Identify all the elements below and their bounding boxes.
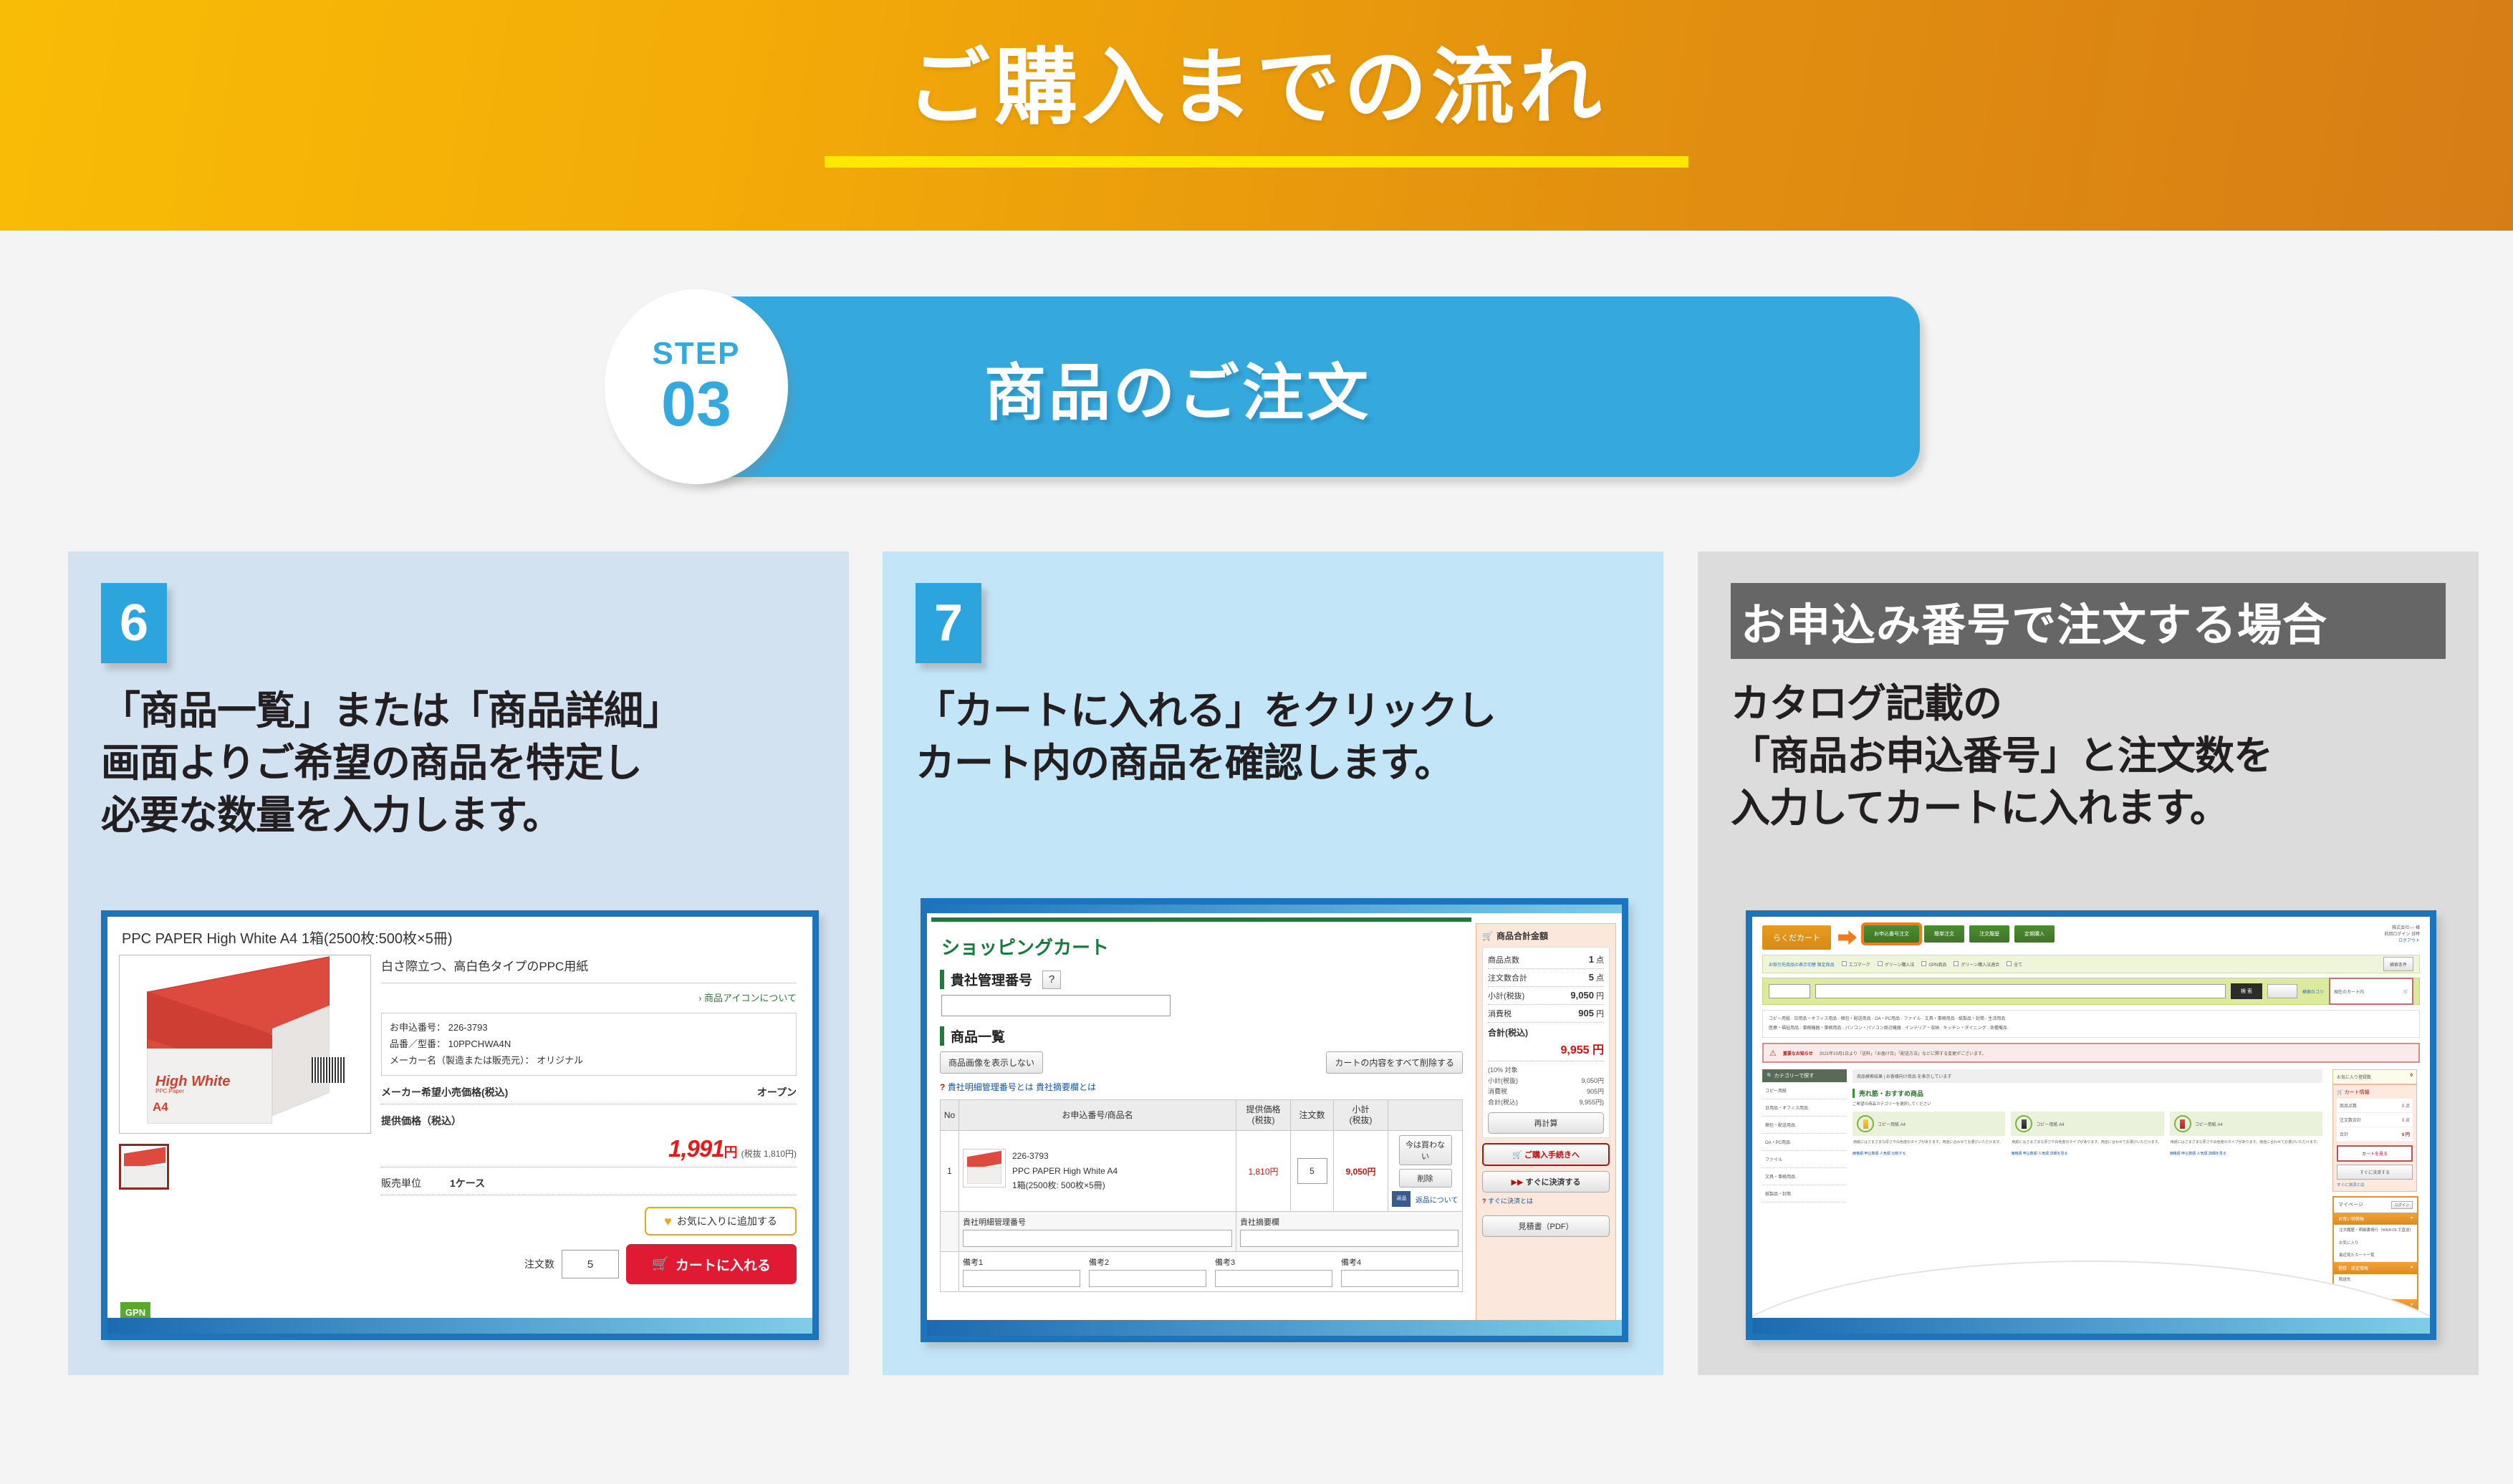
memo-4-input[interactable]	[1341, 1270, 1459, 1287]
summary-line-item-count: 商品点数 1 点	[1488, 951, 1604, 969]
site-quick-pay-note[interactable]: すぐに決済とは	[2337, 1182, 2413, 1187]
list-item[interactable]: コピー用紙 A4 用紙にはさまざまな厚さや白色度のタイプがあります。用途に合わせ…	[2170, 1112, 2322, 1157]
screenshot-2-top-bar	[927, 905, 1622, 913]
sidebar-item-4[interactable]: ファイル	[1762, 1151, 1847, 1168]
search-icon: 🔍	[1767, 1074, 1773, 1079]
memo-3-label: 備考3	[1215, 1256, 1332, 1268]
filter-green-law: グリーン購入法	[1878, 961, 1915, 968]
page-fade-wave	[1752, 1253, 2430, 1318]
step-number: 03	[661, 372, 731, 435]
summary-line-total-qty: 注文数合計 5 点	[1488, 969, 1604, 987]
mypage-heading: マイページ ログイン	[2334, 1198, 2417, 1213]
msrp-label: メーカー希望小売価格(税込)	[381, 1085, 508, 1099]
row-no: 1	[941, 1131, 959, 1212]
step-title: 商品のご注文	[984, 342, 1371, 432]
cart-sidebar-icon: 🛒	[2337, 1090, 2343, 1095]
panel-badge-6: 6	[101, 583, 167, 663]
site-search-bar: 検 索 検索のコツ 現在のカート内 🛒	[1762, 978, 2420, 1005]
cart-sidebar-line-1: 注文数合計0 点	[2337, 1113, 2413, 1127]
add-to-favorites-button[interactable]: ♥ お気に入りに追加する	[645, 1207, 797, 1235]
sidebar-item-3[interactable]: OA・PC用品	[1762, 1134, 1847, 1151]
return-policy-link[interactable]: 返品について	[1416, 1197, 1459, 1205]
summary-cell: 貴社摘要欄	[1236, 1212, 1463, 1252]
catalog-site-page: らくだカート お申込番号注文 簡単注文 注文履歴 定期購入 株式会社○○ 様 前…	[1752, 917, 2430, 1334]
nav-easy-order[interactable]: 簡単注文	[1924, 925, 1964, 943]
add-to-cart-label: カートに入れる	[676, 1255, 771, 1274]
row-memo-fields: 備考1 備考2 備考3	[941, 1252, 1463, 1292]
memo-4-label: 備考4	[1341, 1256, 1459, 1268]
memo-cell: 備考1 備考2 備考3	[959, 1252, 1463, 1292]
step-label: STEP	[653, 338, 741, 370]
screenshot-1-bottom-bar	[107, 1318, 812, 1334]
mini-cart-box[interactable]: 現在のカート内 🛒	[2329, 978, 2413, 1005]
view-cart-button[interactable]: カートを見る	[2337, 1145, 2413, 1162]
cart-table-header: No お申込番号/商品名 提供価格 (税抜) 注文数 小計 (税抜)	[941, 1100, 1463, 1131]
panel-badge-7: 7	[916, 583, 981, 663]
product-lead: 白さ際立つ、高白色タイプのPPC用紙	[381, 956, 797, 974]
spec-model-no: 品番／型番： 10PPCHWA4N	[390, 1036, 788, 1053]
heart-icon: ♥	[664, 1214, 672, 1229]
help-icon[interactable]: ?	[1042, 970, 1061, 989]
quantity-label: 注文数	[524, 1257, 554, 1271]
search-input[interactable]	[1815, 984, 2226, 998]
checkout-cart-icon: 🛒	[1512, 1151, 1522, 1160]
warning-title: 重要なお知らせ	[1783, 1050, 1813, 1056]
page-header: ご購入までの流れ	[0, 0, 2513, 231]
step-badge: STEP 03	[605, 289, 788, 484]
cart-page-title: ショッピングカート	[941, 933, 1463, 960]
spec-maker: メーカー名（製造または販売元）： オリジナル	[390, 1053, 788, 1069]
summary-title-row: 🛒 商品合計金額	[1482, 930, 1610, 942]
row-price: 1,810円	[1236, 1131, 1291, 1212]
checkbox-green-law[interactable]	[1878, 961, 1883, 966]
spec-application-no: お申込番号： 226-3793	[390, 1020, 788, 1036]
memo-1-label: 備考1	[963, 1256, 1080, 1268]
warning-icon: ⚠	[1769, 1049, 1777, 1058]
shopping-cart-page: ショッピングカート 貴社管理番号 ? 商品一覧 商品画像を表示しない カートの内…	[927, 913, 1622, 1342]
panel-description-order-by-number: カタログ記載の 「商品お申込番号」と注文数を 入力してカートに入れます。	[1731, 678, 2446, 834]
site-logo[interactable]: らくだカート	[1762, 925, 1831, 950]
add-to-favorites-label: お気に入りに追加する	[677, 1214, 777, 1228]
keep-for-later-button[interactable]: 今は買わない	[1399, 1135, 1452, 1165]
quote-pdf-button[interactable]: 見積書（PDF）	[1482, 1215, 1610, 1237]
col-subtotal: 小計 (税抜)	[1334, 1100, 1388, 1131]
mini-cart-icon: 🛒	[2403, 989, 2408, 994]
pointer-arrow-icon	[1838, 930, 1857, 945]
product-spec-box: お申込番号： 226-3793 品番／型番： 10PPCHWA4N メーカー名（…	[381, 1013, 797, 1076]
row-detail-fields: 貴社明細管理番号 貴社摘要欄	[941, 1212, 1463, 1252]
summary-line-subtotal: 小計(税抜) 9,050 円	[1488, 987, 1604, 1005]
cart-summary-sidebar: 🛒 商品合計金額 商品点数 1 点 注文数合計 5 点 小計(税抜) 9,050…	[1476, 923, 1616, 1337]
cart-icon: 🛒	[652, 1256, 669, 1273]
table-row: 1 226-3793 PPC PAPER High White A4 1箱(25…	[941, 1131, 1463, 1212]
site-nav: お申込番号注文 簡単注文 注文履歴 定期購入	[1864, 925, 2305, 943]
row-code: 226-3793	[1012, 1149, 1118, 1163]
delete-row-button[interactable]: 削除	[1399, 1169, 1452, 1187]
quick-payment-link[interactable]: すぐに決済とは	[1488, 1198, 1533, 1205]
panel-description-6: 「商品一覧」または「商品詳細」 画面よりご希望の商品を特定し 必要な数量を入力し…	[101, 685, 816, 842]
site-warning-banner: ⚠ 重要なお知らせ 2021年10月1日より「送料」「お届け日」「配送方法」など…	[1762, 1043, 2420, 1063]
search-tips-link[interactable]: 検索のコツ	[2302, 988, 2324, 995]
col-actions	[1388, 1100, 1463, 1131]
checkbox-green-conform[interactable]	[1954, 961, 1959, 966]
breakdown-subtotal: 小計(税抜)9,050円	[1488, 1075, 1604, 1086]
memo-2-label: 備考2	[1089, 1256, 1206, 1268]
warning-text: 2021年10月1日より「送料」「お届け日」「配送方法」などに関する変更がござい…	[1820, 1050, 1986, 1056]
product-image: High WhitePPC Paper A4	[119, 955, 371, 1134]
price-label: 提供価格（税込）	[381, 1114, 461, 1128]
checkbox-gpn[interactable]	[1921, 961, 1926, 966]
delete-all-button[interactable]: カートの内容をすべて削除する	[1326, 1051, 1463, 1074]
summary-total-value: 9,955 円	[1488, 1039, 1604, 1061]
row-name: PPC PAPER High White A4	[1012, 1164, 1118, 1178]
row-qty-cell: 5	[1291, 1131, 1334, 1212]
breakdown-head: (10% 対象	[1488, 1064, 1604, 1075]
panel-description-7: 「カートに入れる」をクリックし カート内の商品を確認します。	[916, 685, 1630, 789]
memo-2-input[interactable]	[1089, 1270, 1206, 1287]
results-heading: 商品検索結果 | お客様向け商品 を表示しています	[1853, 1069, 2322, 1083]
mypage-item-0-0[interactable]: 注文履歴・明細書発行（WEB-DLで直送）	[2334, 1225, 2417, 1237]
search-conditions-button[interactable]: 検索条件	[2383, 957, 2413, 971]
price-excluding-tax: (税抜 1,810円)	[741, 1147, 797, 1160]
quick-payment-button[interactable]: ▶▶ すぐに決済する	[1482, 1171, 1610, 1192]
filter-all: 全て	[2007, 961, 2022, 968]
breakdown-total: 合計(税込)9,955円)	[1488, 1097, 1604, 1107]
price-value: 1,991円	[668, 1135, 737, 1162]
cart-sidebar-line-2: 合計0 円	[2337, 1127, 2413, 1142]
checkout-button[interactable]: 🛒 ご購入手続きへ	[1482, 1143, 1610, 1166]
add-to-cart-button[interactable]: 🛒 カートに入れる	[626, 1244, 797, 1284]
col-name: お申込番号/商品名	[959, 1100, 1236, 1131]
screenshot-product-detail: PPC PAPER High White A4 1箱(2500枚:500枚×5冊…	[101, 910, 819, 1340]
unit-value: 1ケース	[450, 1176, 485, 1190]
site-filter-band: お取引先商品の表示切替 限定商品 エコマーク グリーン購入法 GPN商品 グリー…	[1762, 955, 2420, 973]
mypage-section-0-title: お買い物情報▾	[2334, 1213, 2417, 1225]
site-quick-pay-button[interactable]: すぐに決済する	[2337, 1165, 2413, 1180]
sidebar-item-1[interactable]: 日用品・オフィス用品	[1762, 1099, 1847, 1117]
sidebar-item-0[interactable]: コピー用紙	[1762, 1082, 1847, 1099]
filter-eco: エコマーク	[1842, 961, 1870, 968]
chevron-down-icon: ▾	[2411, 1215, 2413, 1222]
summary-input[interactable]	[1240, 1230, 1459, 1247]
hide-images-button[interactable]: 商品画像を表示しない	[940, 1051, 1043, 1074]
cart-help-links: ? 貴社明細管理番号とは 貴社摘要欄とは	[940, 1081, 1463, 1093]
note-question-icon: ?	[1482, 1198, 1486, 1205]
list-item[interactable]: コピー用紙 A4 用紙にはさまざまな厚さや白色度のタイプがあります。用途に合わせ…	[1853, 1112, 2005, 1157]
recalculate-button[interactable]: 再計算	[1488, 1112, 1604, 1134]
sidebar-item-6[interactable]: 紙製品・封筒	[1762, 1185, 1847, 1203]
nav-order-by-number[interactable]: お申込番号注文	[1864, 925, 1919, 943]
mini-cart-label: 現在のカート内	[2334, 988, 2364, 995]
detail-number-cell: 貴社明細管理番号	[959, 1212, 1236, 1252]
nav-subscription[interactable]: 定期購入	[2014, 925, 2055, 943]
step-header: 商品のご注文 STEP 03	[605, 289, 1920, 484]
list-item[interactable]: コピー用紙 A4 用紙にはさまざまな厚さや白色度のタイプがあります。用途に合わせ…	[2011, 1112, 2163, 1157]
product-circle-icon	[1857, 1115, 1874, 1132]
site-cart-sidebar: 🛒 カート情報 商品点数0 点 注文数合計0 点 合計0 円 カートを見る すぐ…	[2332, 1084, 2417, 1192]
sidebar-left-heading: 🔍 カテゴリーで探す	[1762, 1069, 1847, 1082]
row-actions: 今は買わない 削除 返品 返品について	[1388, 1131, 1463, 1212]
mypage-login-button[interactable]: ログイン	[2391, 1201, 2413, 1209]
row-thumbnail	[963, 1149, 1006, 1187]
detail-number-label: 貴社明細管理番号	[963, 1216, 1232, 1228]
summary-line-tax: 消費税 905 円	[1488, 1005, 1604, 1023]
checkbox-eco[interactable]	[1842, 961, 1847, 966]
filter-gpn: GPN商品	[1921, 961, 1946, 968]
cart-summary-icon: 🛒	[1482, 931, 1493, 941]
product-icon-link-label: 商品アイコンについて	[704, 993, 797, 1003]
product-title: PPC PAPER High White A4 1箱(2500枚:500枚×5冊…	[122, 927, 801, 948]
company-number-input[interactable]	[941, 995, 1171, 1016]
sidebar-item-2[interactable]: 梱包・配送用品	[1762, 1117, 1847, 1134]
logout-link[interactable]: ログアウト	[2398, 939, 2420, 943]
product-detail-page: PPC PAPER High White A4 1箱(2500枚:500枚×5冊…	[107, 917, 812, 1334]
summary-label: 貴社摘要欄	[1240, 1216, 1459, 1228]
row-qty-input[interactable]: 5	[1297, 1158, 1327, 1184]
title-underline	[825, 156, 1688, 168]
msrp-value: オープン	[757, 1085, 797, 1099]
cart-table: No お申込番号/商品名 提供価格 (税抜) 注文数 小計 (税抜) 1 226…	[940, 1099, 1463, 1292]
checkbox-all[interactable]	[2007, 961, 2012, 966]
row-product: 226-3793 PPC PAPER High White A4 1箱(2500…	[959, 1131, 1236, 1212]
panel-heading-order-by-number: お申込み番号で注文する場合	[1731, 583, 2446, 659]
filter-green-conform: グリーン購入法適合	[1954, 961, 1999, 968]
product-circle-icon	[2174, 1115, 2191, 1132]
cart-sidebar-line-0: 商品点数0 点	[2337, 1099, 2413, 1113]
breakdown-tax: 消費税905円	[1488, 1086, 1604, 1097]
sidebar-item-5[interactable]: 文具・事務用品	[1762, 1168, 1847, 1185]
screenshot-3-bottom-bar	[1752, 1318, 2430, 1334]
return-policy-icon: 返品	[1392, 1191, 1411, 1207]
advanced-search-button[interactable]	[2267, 984, 2297, 998]
recommended-title: 売れ筋・おすすめ商品	[1853, 1089, 2322, 1098]
category-row-2: 医療・福祉用品 · 事務機器・事務用品 · パソコン・パソコン周辺機器 · イン…	[1769, 1024, 2413, 1033]
summary-breakdown: (10% 対象 小計(税抜)9,050円 消費税905円 合計(税込)9,955…	[1488, 1061, 1604, 1107]
company-number-heading: 貴社管理番号	[940, 970, 1032, 989]
search-button[interactable]: 検 索	[2231, 983, 2262, 999]
link-detail-number[interactable]: 貴社明細管理番号とは	[948, 1082, 1034, 1092]
col-no: No	[941, 1100, 959, 1131]
mypage-item-0-1[interactable]: お気に入り	[2334, 1238, 2417, 1250]
col-price: 提供価格 (税抜)	[1236, 1100, 1291, 1131]
row-name-2: 1箱(2500枚: 500枚×5冊)	[1012, 1178, 1118, 1192]
memo-3-input[interactable]	[1215, 1270, 1332, 1287]
col-qty: 注文数	[1291, 1100, 1334, 1131]
quick-payment-note: ? すぐに決済とは	[1482, 1196, 1610, 1205]
favorites-box[interactable]: お気に入り登録数 0	[2332, 1069, 2417, 1084]
cart-sidebar-title: 🛒 カート情報	[2337, 1089, 2413, 1096]
detail-number-input[interactable]	[963, 1230, 1232, 1247]
product-circle-icon	[2015, 1115, 2032, 1132]
page-title: ご購入までの流れ	[907, 46, 1606, 129]
item-list-heading: 商品一覧	[940, 1026, 1005, 1046]
unit-label: 販売単位	[381, 1176, 450, 1190]
quantity-input[interactable]: 5	[562, 1250, 619, 1278]
question-icon: ?	[940, 1082, 945, 1092]
row-subtotal: 9,050円	[1334, 1131, 1388, 1212]
step-bar: 商品のご注文	[673, 297, 1920, 477]
site-account-info: 株式会社○○ 様 前回ログイン 日時 ログアウト	[2312, 925, 2420, 945]
screenshot-2-bottom-bar	[927, 1320, 1622, 1336]
screenshot-catalog-site: らくだカート お申込番号注文 簡単注文 注文履歴 定期購入 株式会社○○ 様 前…	[1746, 910, 2436, 1340]
screenshot-shopping-cart: ショッピングカート 貴社管理番号 ? 商品一覧 商品画像を表示しない カートの内…	[921, 898, 1628, 1342]
memo-1-input[interactable]	[963, 1270, 1080, 1287]
search-category-select[interactable]	[1769, 984, 1810, 998]
nav-order-history[interactable]: 注文履歴	[1969, 925, 2009, 943]
fast-forward-icon: ▶▶	[1512, 1178, 1524, 1187]
band-toggle-link[interactable]: お取引先商品の表示切替 限定商品	[1769, 961, 1835, 968]
product-thumbnail[interactable]	[119, 1144, 169, 1190]
summary-title: 商品合計金額	[1496, 930, 1548, 942]
site-category-links: コピー用紙 · 日用品・オフィス用品 · 梱包・配送用品 · OA・PC用品 ·…	[1762, 1010, 2420, 1038]
category-row-1: コピー用紙 · 日用品・オフィス用品 · 梱包・配送用品 · OA・PC用品 ·…	[1769, 1015, 2413, 1024]
product-icon-link[interactable]: › 商品アイコンについて	[381, 991, 797, 1004]
link-summary-field[interactable]: 貴社摘要欄とは	[1036, 1082, 1096, 1092]
summary-total-label: 合計(税込)	[1488, 1023, 1604, 1039]
recommended-subtitle: ご希望の商品カテゴリーを選択してください	[1853, 1101, 2322, 1107]
